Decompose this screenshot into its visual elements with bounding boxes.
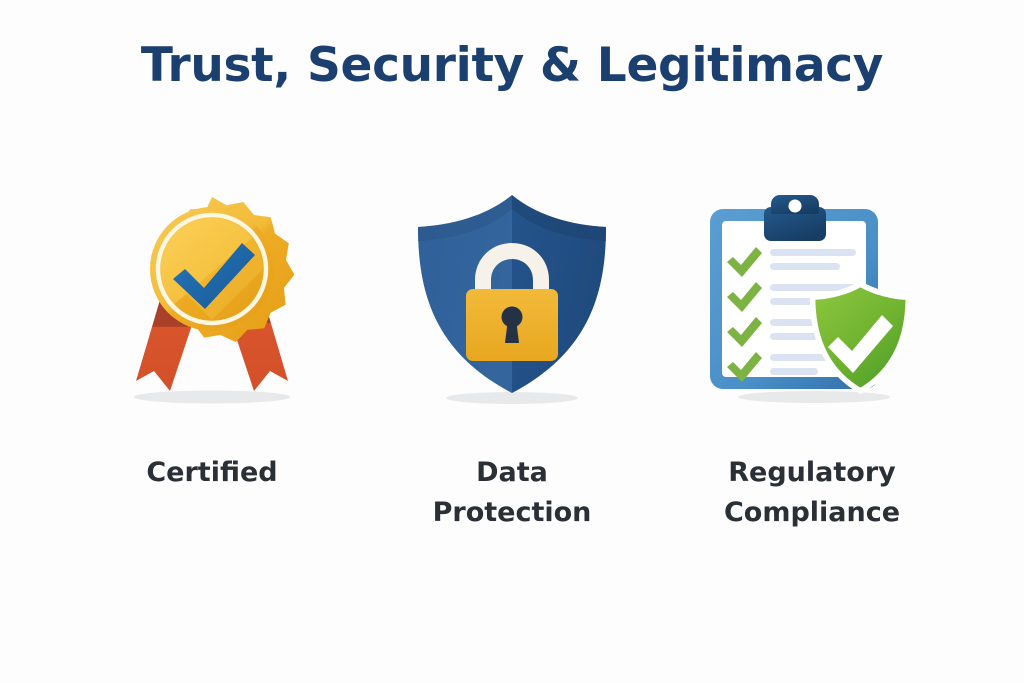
card-label-regulatory-compliance: Regulatory Compliance [724,453,900,533]
card-certified[interactable]: Certified [62,185,362,493]
card-label-data-protection: Data Protection [397,453,627,533]
card-label-line2: Compliance [724,493,900,533]
card-label-line1: Certified [146,457,277,488]
clipboard-checklist-shield-icon [692,185,932,415]
page-title: Trust, Security & Legitimacy [0,38,1024,93]
card-label-line1: Data Protection [433,457,592,528]
card-label-certified: Certified [146,453,277,493]
clipboard-shadow [738,391,890,403]
card-label-line1: Regulatory [728,457,896,488]
shield-shadow [446,392,578,404]
card-regulatory-compliance[interactable]: Regulatory Compliance [662,185,962,533]
badge-shadow [134,391,290,404]
trust-badge-row: Certified [0,185,1024,533]
clipboard-clip-icon [764,195,826,241]
shield-lock-icon [392,185,632,415]
card-data-protection[interactable]: Data Protection [362,185,662,533]
certification-badge-icon [92,185,332,415]
infographic-page: Trust, Security & Legitimacy [0,0,1024,683]
